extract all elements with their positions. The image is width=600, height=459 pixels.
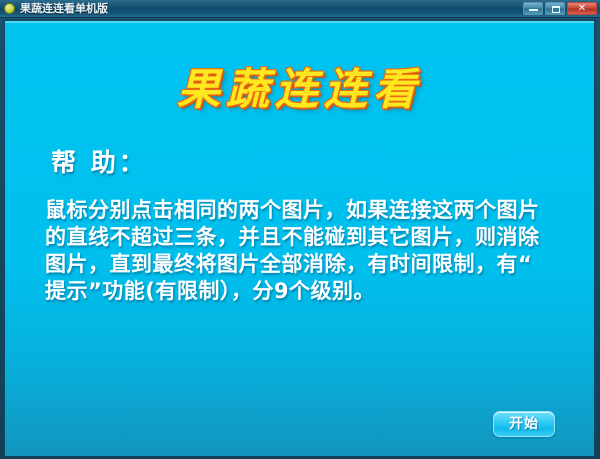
help-text-block: 鼠标分别点击相同的两个图片，如果连接这两个图片 的直线不超过三条，并且不能碰到其… <box>45 197 577 305</box>
maximize-icon <box>552 6 560 13</box>
application-window: 果蔬连连看单机版 ✕ 果蔬连连看 帮 助： 鼠标分别点击相同的两个图片，如果连接… <box>0 0 600 459</box>
game-content-area: 果蔬连连看 帮 助： 鼠标分别点击相同的两个图片，如果连接这两个图片 的直线不超… <box>5 21 594 456</box>
content-top-highlight <box>5 21 594 23</box>
minimize-button[interactable] <box>523 2 543 15</box>
help-heading: 帮 助： <box>51 148 147 178</box>
start-button-label: 开始 <box>509 416 539 432</box>
window-title: 果蔬连连看单机版 <box>20 3 108 15</box>
start-button[interactable]: 开始 <box>493 411 555 437</box>
help-line: 图片，直到最终将图片全部消除，有时间限制，有“ <box>45 251 577 278</box>
title-bar-left: 果蔬连连看单机版 <box>0 3 523 15</box>
close-icon: ✕ <box>568 3 596 14</box>
game-title: 果蔬连连看 <box>5 65 594 115</box>
minimize-icon <box>529 9 538 11</box>
help-line: 提示”功能(有限制），分9个级别。 <box>45 278 577 305</box>
help-line: 的直线不超过三条，并且不能碰到其它图片，则消除 <box>45 224 577 251</box>
help-line: 鼠标分别点击相同的两个图片，如果连接这两个图片 <box>45 197 577 224</box>
window-controls: ✕ <box>523 2 600 15</box>
maximize-button[interactable] <box>545 2 565 15</box>
title-bar[interactable]: 果蔬连连看单机版 ✕ <box>0 0 600 18</box>
close-button[interactable]: ✕ <box>567 2 597 15</box>
fruit-circle-icon <box>4 3 15 14</box>
